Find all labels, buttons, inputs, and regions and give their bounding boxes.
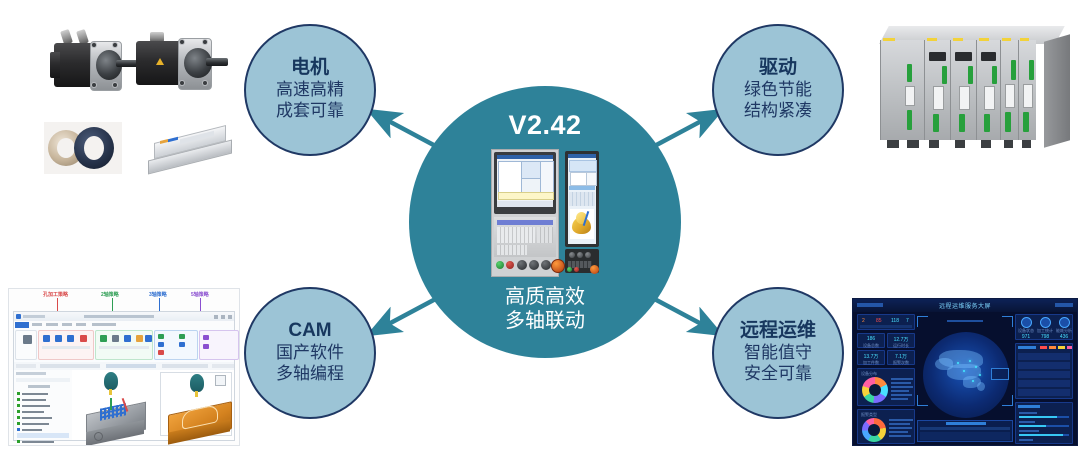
connector-hub-to-remote <box>647 295 722 335</box>
dashboard-header: 远程运维服务大屏 <box>853 299 1077 312</box>
cam-part-orange <box>168 398 236 444</box>
node-circle-motor[interactable]: 电机 高速高精 成套可靠 <box>244 24 376 156</box>
cam-ribbon[interactable] <box>14 328 234 363</box>
servo-motor-b <box>134 32 234 102</box>
cam-operation-tree[interactable] <box>14 370 73 440</box>
node-title-drive: 驱动 <box>759 58 797 79</box>
drive-module-2 <box>924 40 950 140</box>
dashboard-china-map <box>917 316 1013 432</box>
drive-module-3 <box>950 40 976 140</box>
drive-module-6 <box>1018 40 1036 140</box>
node-title-cam: CAM <box>288 321 331 342</box>
connector-hub-to-motor <box>368 110 443 150</box>
remote-maintenance-dashboard-screenshot: 远程运维服务大屏 2 85 118 7 186 设备总数 12.7万 运行时长 <box>852 298 1078 446</box>
node-line2-drive: 结构紧凑 <box>744 101 812 122</box>
node-title-remote: 远程运维 <box>740 321 816 342</box>
cnc-controller-photo <box>491 149 599 277</box>
node-line1-drive: 绿色节能 <box>744 80 812 101</box>
cam-annotation-3: 5轴策略 <box>191 291 209 298</box>
drive-module-4 <box>976 40 1000 140</box>
node-title-motor: 电机 <box>291 58 329 79</box>
node-circle-drive[interactable]: 驱动 绿色节能 结构紧凑 <box>712 24 844 156</box>
node-line2-remote: 安全可靠 <box>744 364 812 385</box>
dashboard-right-column: 设备状态 加工统计 能耗分析 971 798 436 <box>1015 314 1073 442</box>
cam-annotation-2: 3轴策略 <box>149 291 167 298</box>
hub-version-label: V2.42 <box>508 112 581 139</box>
diagram-canvas: V2.42 <box>0 0 1080 474</box>
drive-rack <box>874 26 1070 152</box>
cam-window <box>13 311 235 441</box>
encoder-ring-photo <box>44 122 122 174</box>
cam-part-grey <box>80 392 154 446</box>
connector-hub-to-cam <box>368 295 443 335</box>
node-line1-cam: 国产软件 <box>276 343 344 364</box>
cam-annotation-0: 孔加工策略 <box>43 291 68 298</box>
hub-subtitle: 高质高效 多轴联动 <box>505 286 585 333</box>
cam-3d-viewport[interactable] <box>72 370 234 440</box>
drive-module-5 <box>1000 40 1018 140</box>
servo-drive-rack-photo <box>866 8 1078 170</box>
node-circle-remote[interactable]: 远程运维 智能值守 安全可靠 <box>712 287 844 419</box>
node-circle-cam[interactable]: CAM 国产软件 多轴编程 <box>244 287 376 419</box>
cam-tool-graphic-right <box>190 374 204 392</box>
drive-module-1 <box>880 40 924 140</box>
linear-motor-rail-photo <box>144 120 236 176</box>
servo-motor-products-photo <box>14 12 240 182</box>
dashboard-title: 远程运维服务大屏 <box>939 301 991 310</box>
node-line2-motor: 成套可靠 <box>276 101 344 122</box>
dashboard-left-column: 2 85 118 7 186 设备总数 12.7万 运行时长 13.7万 加工件… <box>857 314 915 442</box>
connector-hub-to-drive <box>647 110 722 150</box>
cam-tool-graphic-left <box>104 372 118 390</box>
hub-subtitle-line1: 高质高效 <box>505 286 585 310</box>
dashboard-alarm-table[interactable] <box>917 420 1013 442</box>
node-line1-motor: 高速高精 <box>276 80 344 101</box>
node-line1-remote: 智能值守 <box>744 343 812 364</box>
cam-annotation-1: 2轴策略 <box>101 291 119 298</box>
cam-software-screenshot: 孔加工策略 2轴策略 3轴策略 5轴策略 <box>8 288 240 446</box>
servo-motor-a <box>50 30 140 100</box>
hub-subtitle-line2: 多轴联动 <box>505 310 585 334</box>
cam-view-cube[interactable] <box>215 375 226 386</box>
node-line2-cam: 多轴编程 <box>276 364 344 385</box>
hub-circle: V2.42 <box>409 86 681 358</box>
